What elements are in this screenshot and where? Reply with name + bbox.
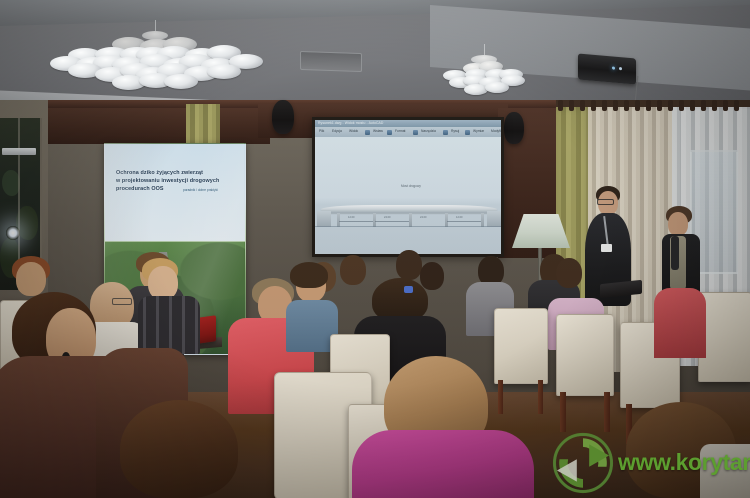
toolbar-item-0[interactable]: Plik <box>319 129 324 133</box>
curtain-ring <box>613 100 618 111</box>
wall-speaker-left <box>272 100 294 134</box>
banner-headline-2: w projektowaniu inwestycji drogowych <box>116 178 236 185</box>
curtain-ring <box>591 100 596 111</box>
curtain-ring <box>646 100 651 111</box>
ceiling-air-vent-icon <box>300 51 362 72</box>
name-badge <box>601 244 612 252</box>
curtain-ring <box>712 100 717 111</box>
curtain-ring <box>668 100 673 111</box>
curtain-ring <box>602 100 607 111</box>
foreground-head-center <box>120 400 238 498</box>
audience-head <box>148 266 178 300</box>
projector-led-icon <box>619 67 622 70</box>
audience-head <box>420 262 444 290</box>
curtain-ring <box>734 100 739 111</box>
audience-head <box>556 258 582 288</box>
curtain-ring <box>701 100 706 111</box>
light-disc <box>164 74 198 89</box>
window-light-glare <box>6 226 20 240</box>
curtain-ring <box>723 100 728 111</box>
audience-head <box>16 262 46 296</box>
dimension-label-1: 24.00 <box>384 216 391 219</box>
curtain-ring <box>569 100 574 111</box>
projector-led-icon <box>612 66 615 69</box>
chair-back[interactable] <box>494 308 548 384</box>
bridge-pier <box>337 213 340 227</box>
toolbar-item-3[interactable]: Wstaw <box>373 129 383 133</box>
drawing-canvas: Most drogowy 12.00 24.00 24.00 12.00 <box>315 137 501 254</box>
audience-head <box>340 255 366 285</box>
curtain-ring <box>690 100 695 111</box>
print-icon[interactable] <box>443 130 448 135</box>
save-icon[interactable] <box>413 130 418 135</box>
audience-hair <box>290 262 328 288</box>
toolbar-item-8[interactable]: Modyfikuj <box>491 129 501 133</box>
photo-scene: Rysunek1.dwg - Widok mostu - AutoCAD Pli… <box>0 0 750 498</box>
light-disc <box>485 82 509 93</box>
banner-subtitle: poradnik / dobre praktyki <box>183 188 218 192</box>
walker-head <box>668 212 688 236</box>
dimension-label-3: 12.00 <box>456 216 463 219</box>
curtain-ring <box>635 100 640 111</box>
curtain-ring <box>624 100 629 111</box>
audience-head <box>396 250 422 280</box>
dimension-label-2: 24.00 <box>420 216 427 219</box>
bridge-pier <box>373 213 376 227</box>
banner-headline-3: procedurach OOS <box>116 186 236 193</box>
toolbar-item-4[interactable]: Format <box>395 129 405 133</box>
foreground-pink-shirt <box>352 430 534 498</box>
toolbar-item-7[interactable]: Wymiar <box>473 129 484 133</box>
drawing-title-label: Most drogowy <box>401 184 421 188</box>
bridge-pier <box>409 213 412 227</box>
app-title-bar: Rysunek1.dwg - Widok mostu - AutoCAD <box>315 120 501 127</box>
bridge-pier <box>481 213 484 227</box>
disc-chandelier-large <box>50 38 260 86</box>
projection-screen: Rysunek1.dwg - Widok mostu - AutoCAD Pli… <box>315 120 501 254</box>
app-title-text: Rysunek1.dwg - Widok mostu - AutoCAD <box>318 120 383 127</box>
toolbar-item-2[interactable]: Widok <box>349 129 358 133</box>
curtain-ring <box>679 100 684 111</box>
hair-clip <box>404 286 413 293</box>
audience-plaid-shirt <box>138 296 200 354</box>
glasses-icon <box>112 298 132 305</box>
glasses-icon <box>597 199 614 205</box>
layers-icon[interactable] <box>465 130 470 135</box>
window-light-fixture <box>2 148 36 155</box>
curtain-ring <box>657 100 662 111</box>
green-circular-arrow-logo <box>552 432 614 494</box>
bridge-pier <box>445 213 448 227</box>
curtain-ring <box>580 100 585 111</box>
bridge-abutment-right <box>487 211 501 227</box>
ceiling-mounted-projector <box>578 53 636 84</box>
curtain-rod <box>556 100 750 107</box>
light-disc <box>207 64 241 79</box>
disc-chandelier-small <box>428 62 540 90</box>
ground-line <box>315 226 501 227</box>
bridge-abutment-left <box>317 211 331 227</box>
chair-back[interactable] <box>556 314 614 396</box>
walker-scarf <box>671 236 679 270</box>
curtain-ring <box>558 100 563 111</box>
toolbar-item-5[interactable]: Narzędzia <box>421 129 436 133</box>
toolbar-item-1[interactable]: Edycja <box>332 129 342 133</box>
wall-speaker-right <box>504 112 524 144</box>
banner-headline-1: Ochrona dziko żyjących zwierząt <box>116 170 236 177</box>
toolbar-item-6[interactable]: Rysuj <box>451 129 459 133</box>
wall-wood-panel-left <box>30 108 270 144</box>
open-file-icon[interactable] <box>387 130 392 135</box>
new-file-icon[interactable] <box>365 130 370 135</box>
watermark: www.korytarze.pl <box>548 430 748 496</box>
dimension-label-0: 12.00 <box>348 216 355 219</box>
bridge-deck <box>321 205 497 213</box>
watermark-url: www.korytarze.pl <box>618 449 750 476</box>
audience-torso-red <box>654 288 706 358</box>
